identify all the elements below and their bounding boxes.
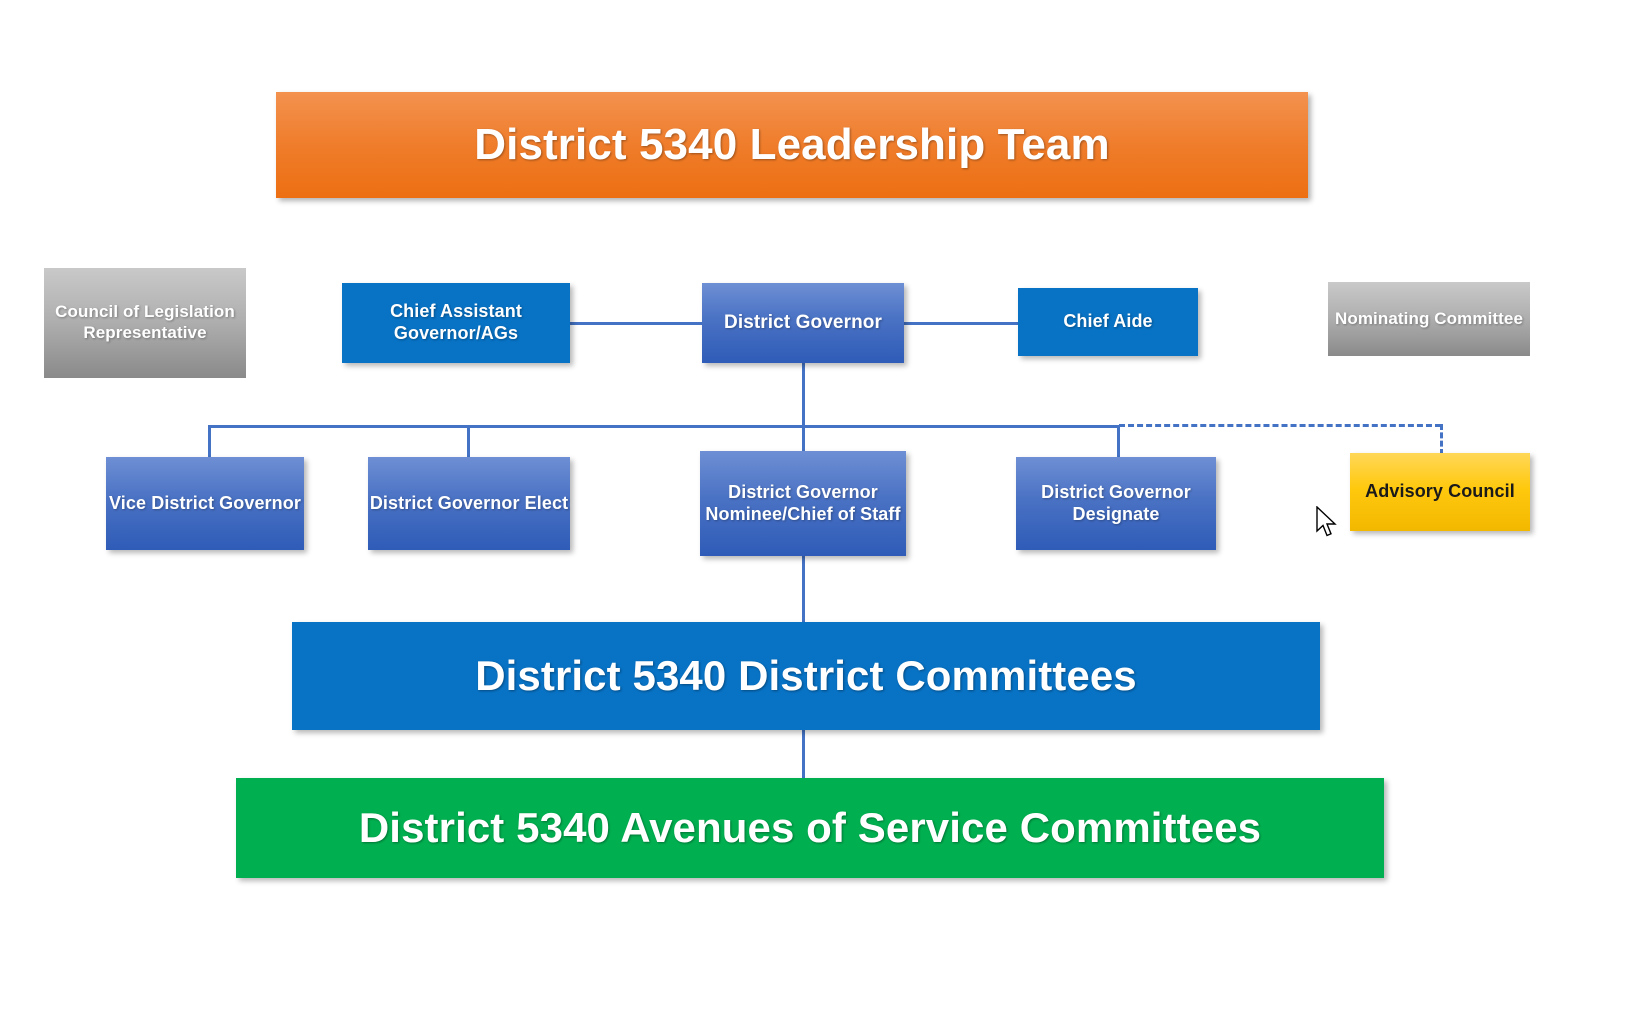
banner-district-committees[interactable]: District 5340 District Committees [292, 622, 1320, 730]
node-district-governor-designate[interactable]: District Governor Designate [1016, 457, 1216, 550]
connector-bus-to-district-governor-elect [467, 425, 470, 459]
banner-avenues-of-service-committees[interactable]: District 5340 Avenues of Service Committ… [236, 778, 1384, 878]
node-chief-assistant-governor[interactable]: Chief Assistant Governor/AGs [342, 283, 570, 363]
leadership-team-title-banner: District 5340 Leadership Team [276, 92, 1308, 198]
node-chief-aide[interactable]: Chief Aide [1018, 288, 1198, 356]
node-vice-district-governor[interactable]: Vice District Governor [106, 457, 304, 550]
node-council-of-legislation-representative[interactable]: Council of Legislation Representative [44, 268, 246, 378]
node-district-governor[interactable]: District Governor [702, 283, 904, 363]
node-nominating-committee[interactable]: Nominating Committee [1328, 282, 1530, 356]
connector-dashed-bus-to-advisory-council [1119, 424, 1441, 427]
connector-officer-row-bus [208, 425, 1120, 428]
connector-district-committees-to-avenues [802, 730, 805, 780]
connector-bus-to-district-governor-nominee [802, 425, 805, 453]
connector-bus-to-vice-district-governor [208, 425, 211, 459]
node-advisory-council[interactable]: Advisory Council [1350, 453, 1530, 531]
org-chart-canvas: District 5340 Leadership Team Council of… [0, 0, 1630, 1014]
node-district-governor-nominee-chief-of-staff[interactable]: District Governor Nominee/Chief of Staff [700, 451, 906, 556]
connector-chief-assistant-governor-to-district-governor [570, 322, 704, 325]
connector-nominee-to-district-committees [802, 556, 805, 624]
connector-district-governor-down [802, 363, 805, 427]
connector-dashed-down-to-advisory-council [1440, 424, 1443, 455]
node-district-governor-elect[interactable]: District Governor Elect [368, 457, 570, 550]
connector-district-governor-to-chief-aide [904, 322, 1020, 325]
mouse-cursor-icon [1316, 506, 1338, 538]
connector-bus-to-district-governor-designate [1117, 425, 1120, 459]
